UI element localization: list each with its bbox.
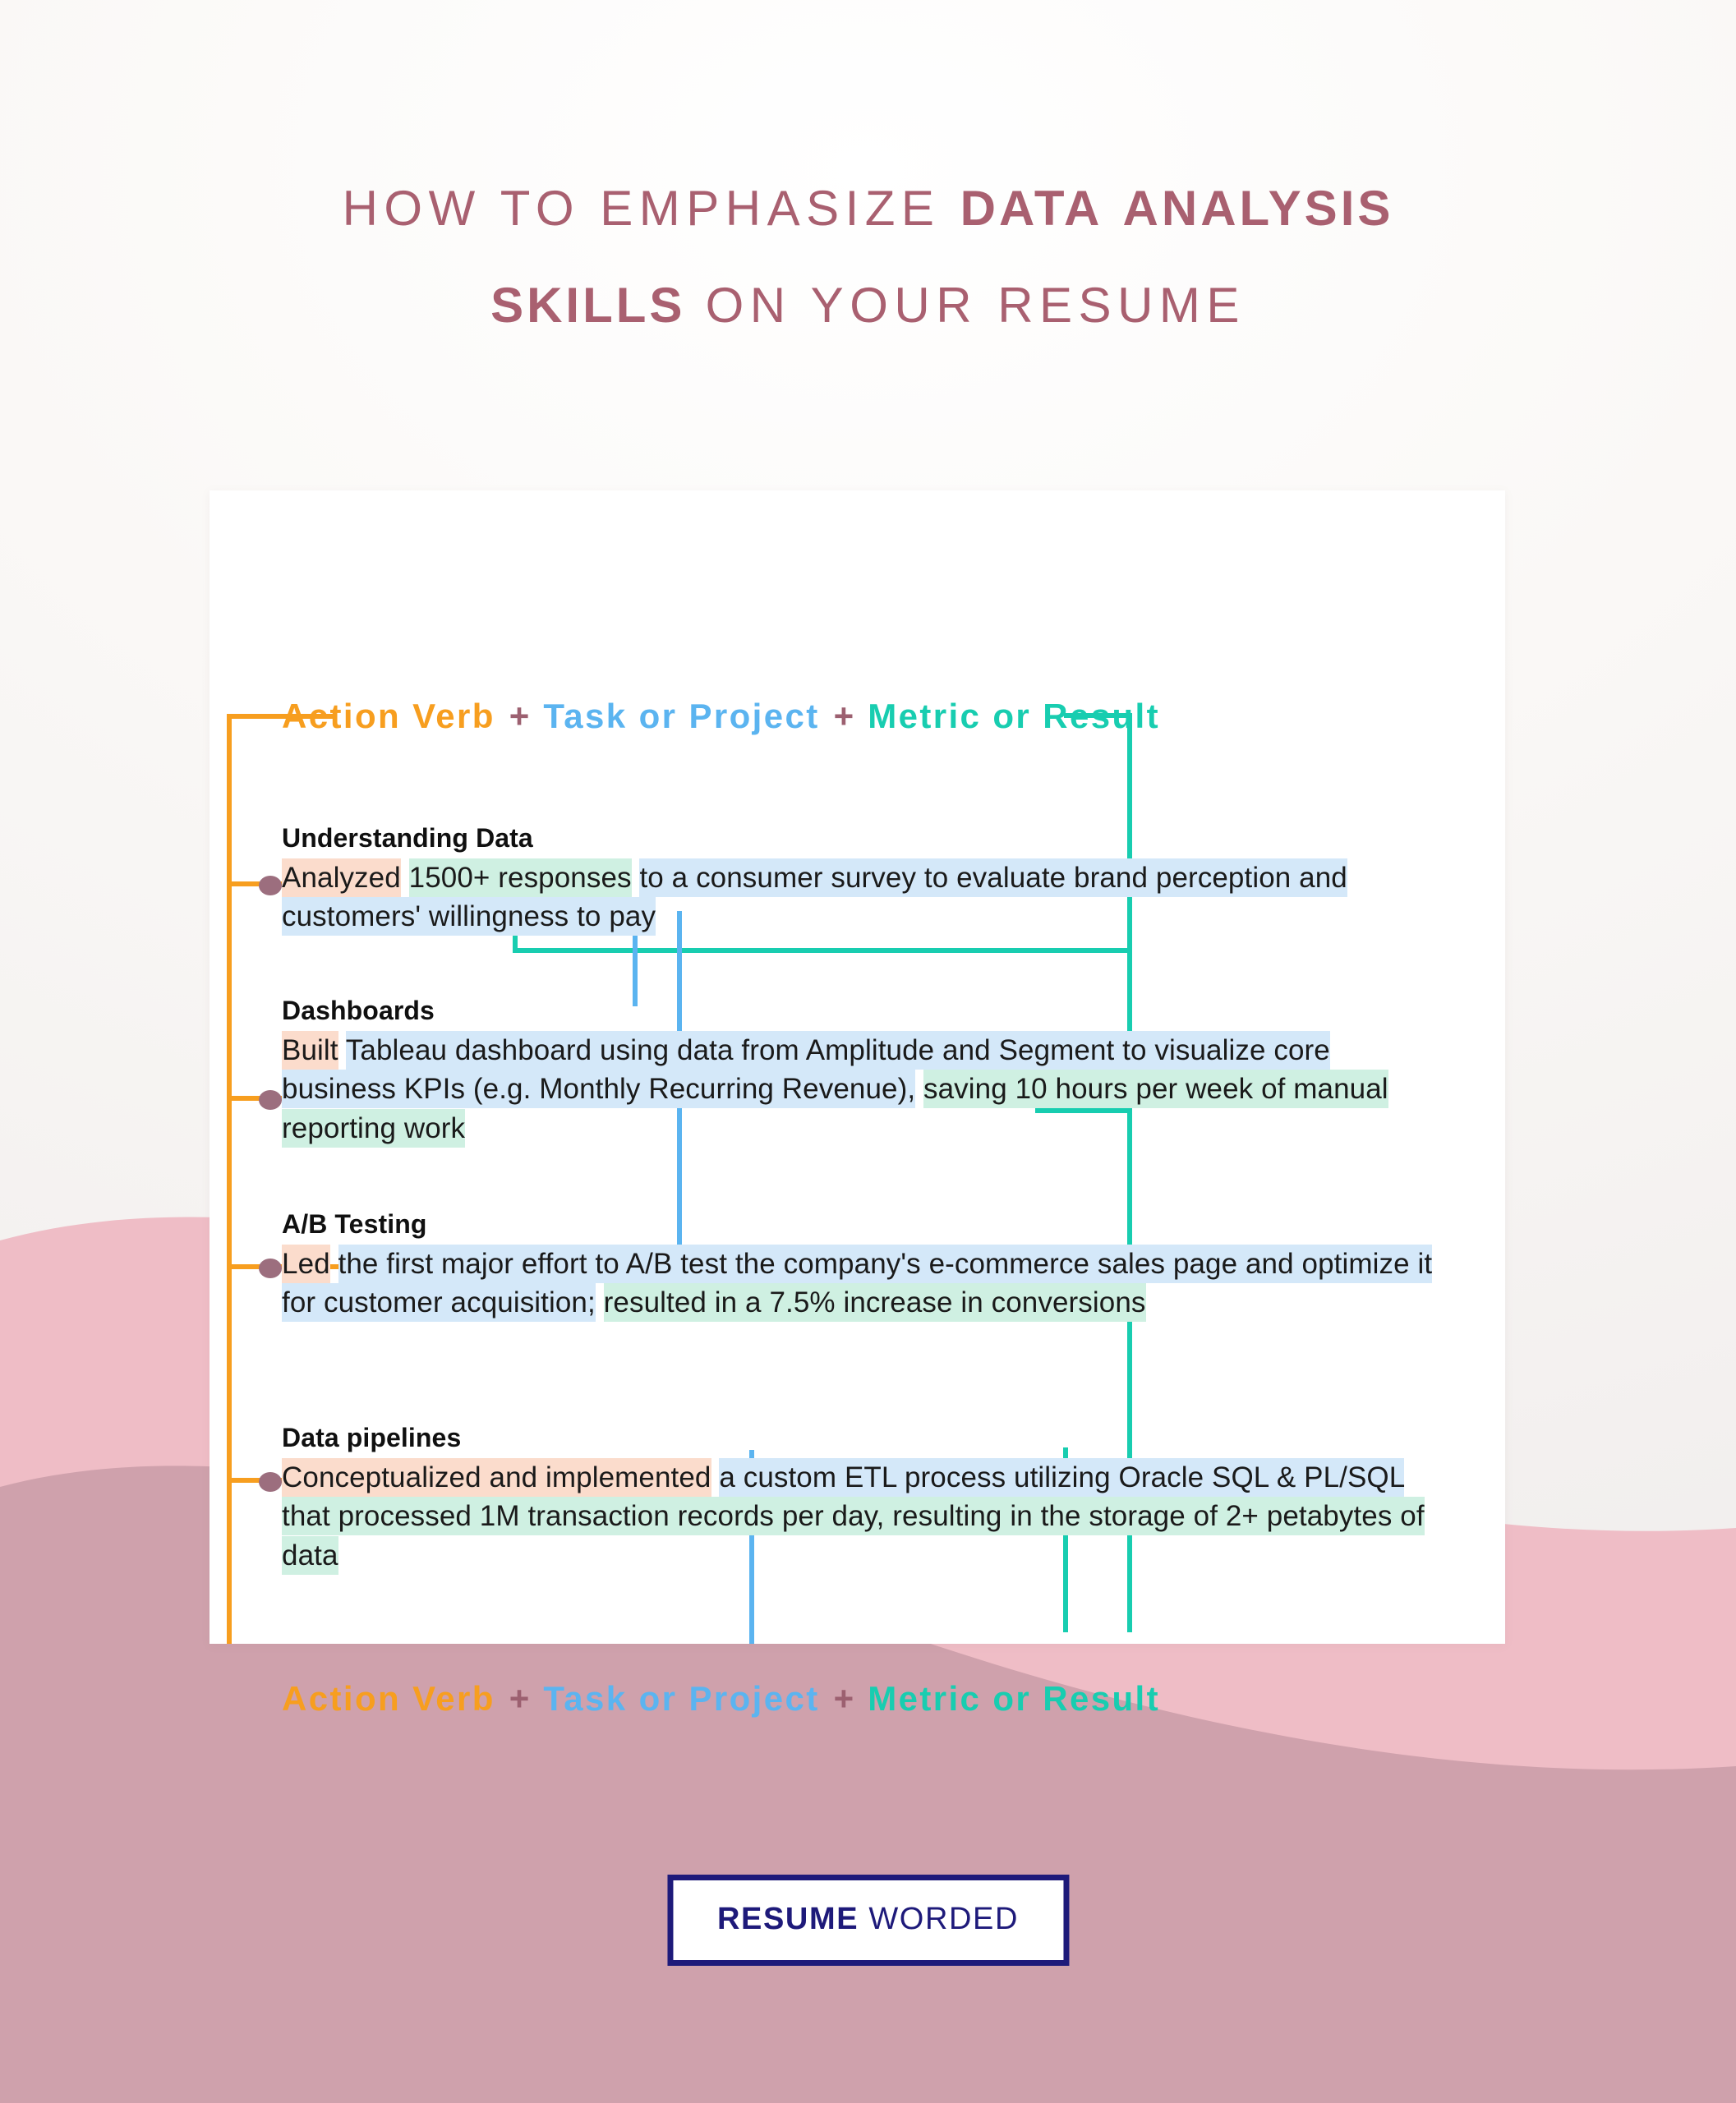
formula-row-top: Action Verb+Task or Project+Metric or Re… bbox=[282, 699, 1160, 734]
bullet-body-2: Built Tableau dashboard using data from … bbox=[282, 1031, 1448, 1148]
formula-action-verb-bottom: Action Verb bbox=[282, 1679, 495, 1718]
bullet-block-understanding-data: Understanding Data Analyzed 1500+ respon… bbox=[282, 823, 1448, 936]
bullet-4-action-verb: Conceptualized and implemented bbox=[282, 1458, 711, 1497]
page-title: HOW TO EMPHASIZE DATA ANALYSIS SKILLS ON… bbox=[0, 160, 1736, 354]
bullet-body-4: Conceptualized and implemented a custom … bbox=[282, 1458, 1448, 1575]
bullet-marker-2 bbox=[259, 1090, 282, 1110]
formula-plus-1-bottom: + bbox=[495, 1679, 544, 1718]
bullet-block-data-pipelines: Data pipelines Conceptualized and implem… bbox=[282, 1423, 1448, 1575]
infographic-card: Action Verb+Task or Project+Metric or Re… bbox=[210, 490, 1505, 1644]
bullet-3-action-verb: Led bbox=[282, 1245, 330, 1283]
bullet-1-metric: 1500+ responses bbox=[409, 858, 632, 897]
bullet-block-ab-testing: A/B Testing Led the first major effort t… bbox=[282, 1209, 1448, 1323]
formula-metric-top: Metric or Result bbox=[868, 697, 1160, 735]
formula-action-verb-top: Action Verb bbox=[282, 697, 495, 735]
title-line-3-plain: RESUME bbox=[997, 278, 1246, 333]
formula-plus-2-bottom: + bbox=[820, 1679, 868, 1718]
bullet-title-3: A/B Testing bbox=[282, 1209, 1448, 1240]
logo-word-worded: WORDED bbox=[868, 1902, 1019, 1936]
resume-worded-logo[interactable]: RESUME WORDED bbox=[667, 1875, 1069, 1966]
title-line-2-plain: ON YOUR bbox=[685, 278, 978, 333]
bullet-body-1: Analyzed 1500+ responses to a consumer s… bbox=[282, 858, 1448, 936]
title-line-1-bold: DATA bbox=[960, 181, 1103, 236]
bullet-4-task: a custom ETL process utilizing Oracle SQ… bbox=[719, 1458, 1404, 1497]
formula-row-bottom: Action Verb+Task or Project+Metric or Re… bbox=[282, 1682, 1160, 1716]
bullet-4-metric: that processed 1M transaction records pe… bbox=[282, 1497, 1425, 1574]
bullet-title-2: Dashboards bbox=[282, 996, 1448, 1026]
title-line-1-plain: HOW TO EMPHASIZE bbox=[343, 181, 960, 236]
logo-word-resume: RESUME bbox=[717, 1902, 859, 1936]
formula-task-bottom: Task or Project bbox=[543, 1679, 819, 1718]
bullet-marker-3 bbox=[259, 1259, 282, 1278]
bullet-title-4: Data pipelines bbox=[282, 1423, 1448, 1453]
formula-plus-1-top: + bbox=[495, 697, 544, 735]
bullet-marker-1 bbox=[259, 876, 282, 895]
bullet-1-action-verb: Analyzed bbox=[282, 858, 401, 897]
formula-plus-2-top: + bbox=[820, 697, 868, 735]
bullet-body-3: Led the first major effort to A/B test t… bbox=[282, 1245, 1448, 1323]
bullet-block-dashboards: Dashboards Built Tableau dashboard using… bbox=[282, 996, 1448, 1148]
formula-metric-bottom: Metric or Result bbox=[868, 1679, 1160, 1718]
bullet-marker-4 bbox=[259, 1472, 282, 1492]
bullet-2-action-verb: Built bbox=[282, 1031, 338, 1070]
formula-task-top: Task or Project bbox=[543, 697, 819, 735]
bullet-3-metric: resulted in a 7.5% increase in conversio… bbox=[604, 1283, 1146, 1322]
bullet-title-1: Understanding Data bbox=[282, 823, 1448, 854]
